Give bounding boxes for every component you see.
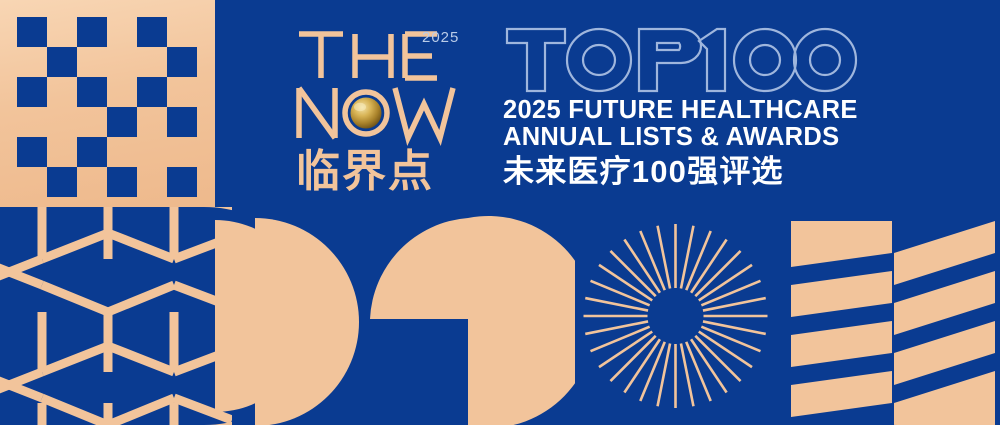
checker-cell-4-5 xyxy=(167,137,197,167)
semicircle-right xyxy=(255,218,359,425)
checker-cell-3-0 xyxy=(17,107,47,137)
checker-cell-1-3 xyxy=(107,47,137,77)
sunburst-decoration xyxy=(583,207,768,425)
checker-cell-4-0 xyxy=(17,137,47,167)
sunburst-ray-4 xyxy=(695,251,740,296)
notched-circle xyxy=(370,216,575,425)
checker-cell-5-2 xyxy=(77,167,107,197)
checker-cell-0-3 xyxy=(107,17,137,47)
title-block: 2025 FUTURE HEALTHCARE ANNUAL LISTS & AW… xyxy=(503,23,843,190)
checker-cell-5-0 xyxy=(17,167,47,197)
checker-cell-1-5 xyxy=(167,47,197,77)
stripe-column-left xyxy=(791,221,892,417)
decorative-band xyxy=(0,207,1000,425)
checker-cell-5-1 xyxy=(47,167,77,197)
checker-cell-3-1 xyxy=(47,107,77,137)
title-chinese-line: 未来医疗100强评选 xyxy=(503,154,843,190)
logo-artwork: 2025 临界点 xyxy=(291,22,491,192)
logo-the-letters xyxy=(299,34,437,78)
top100-headline xyxy=(503,23,843,95)
checker-cell-0-1 xyxy=(47,17,77,47)
checker-cell-3-4 xyxy=(137,107,167,137)
checker-cell-2-4 xyxy=(137,77,167,107)
checker-cell-4-3 xyxy=(107,137,137,167)
checker-cell-5-5 xyxy=(167,167,197,197)
the-now-logo: 2025 临界点 xyxy=(291,22,491,192)
checker-cell-5-4 xyxy=(137,167,167,197)
checker-cell-2-5 xyxy=(167,77,197,107)
checker-cell-2-3 xyxy=(107,77,137,107)
checker-cell-0-0 xyxy=(17,17,47,47)
gold-orb-icon xyxy=(351,98,382,129)
top100-outline-letters xyxy=(507,29,856,91)
title-english-line-2: ANNUAL LISTS & AWARDS xyxy=(503,124,843,151)
sunburst-ray-28 xyxy=(610,251,655,296)
checker-cell-0-2 xyxy=(77,17,107,47)
checker-cell-1-1 xyxy=(47,47,77,77)
checker-cell-0-5 xyxy=(167,17,197,47)
checkerboard-grid xyxy=(17,17,197,197)
checker-cell-2-2 xyxy=(77,77,107,107)
checker-cell-2-1 xyxy=(47,77,77,107)
checkerboard-decoration xyxy=(0,0,215,207)
checker-cell-1-2 xyxy=(77,47,107,77)
checker-cell-2-0 xyxy=(17,77,47,107)
checker-cell-3-5 xyxy=(167,107,197,137)
title-english-line-1: 2025 FUTURE HEALTHCARE xyxy=(503,97,843,124)
logo-year-superscript: 2025 xyxy=(422,29,459,46)
sunburst-ray-12 xyxy=(695,336,740,381)
checker-cell-4-1 xyxy=(47,137,77,167)
checker-cell-1-4 xyxy=(137,47,167,77)
checker-cell-3-3 xyxy=(107,107,137,137)
checker-cell-5-3 xyxy=(107,167,137,197)
checker-cell-3-2 xyxy=(77,107,107,137)
hexagon-lattice-decoration xyxy=(0,207,232,425)
logo-chinese-name: 临界点 xyxy=(296,147,434,196)
promo-banner: 2025 临界点 xyxy=(0,0,1000,425)
sunburst-ray-20 xyxy=(610,336,655,381)
circle-shapes-decoration xyxy=(215,207,575,425)
zigzag-stripes-decoration xyxy=(785,207,1000,425)
top100-artwork xyxy=(503,23,843,95)
stripe-column-right xyxy=(894,221,995,425)
checker-cell-4-4 xyxy=(137,137,167,167)
checker-cell-1-0 xyxy=(17,47,47,77)
checker-cell-0-4 xyxy=(137,17,167,47)
checker-cell-4-2 xyxy=(77,137,107,167)
